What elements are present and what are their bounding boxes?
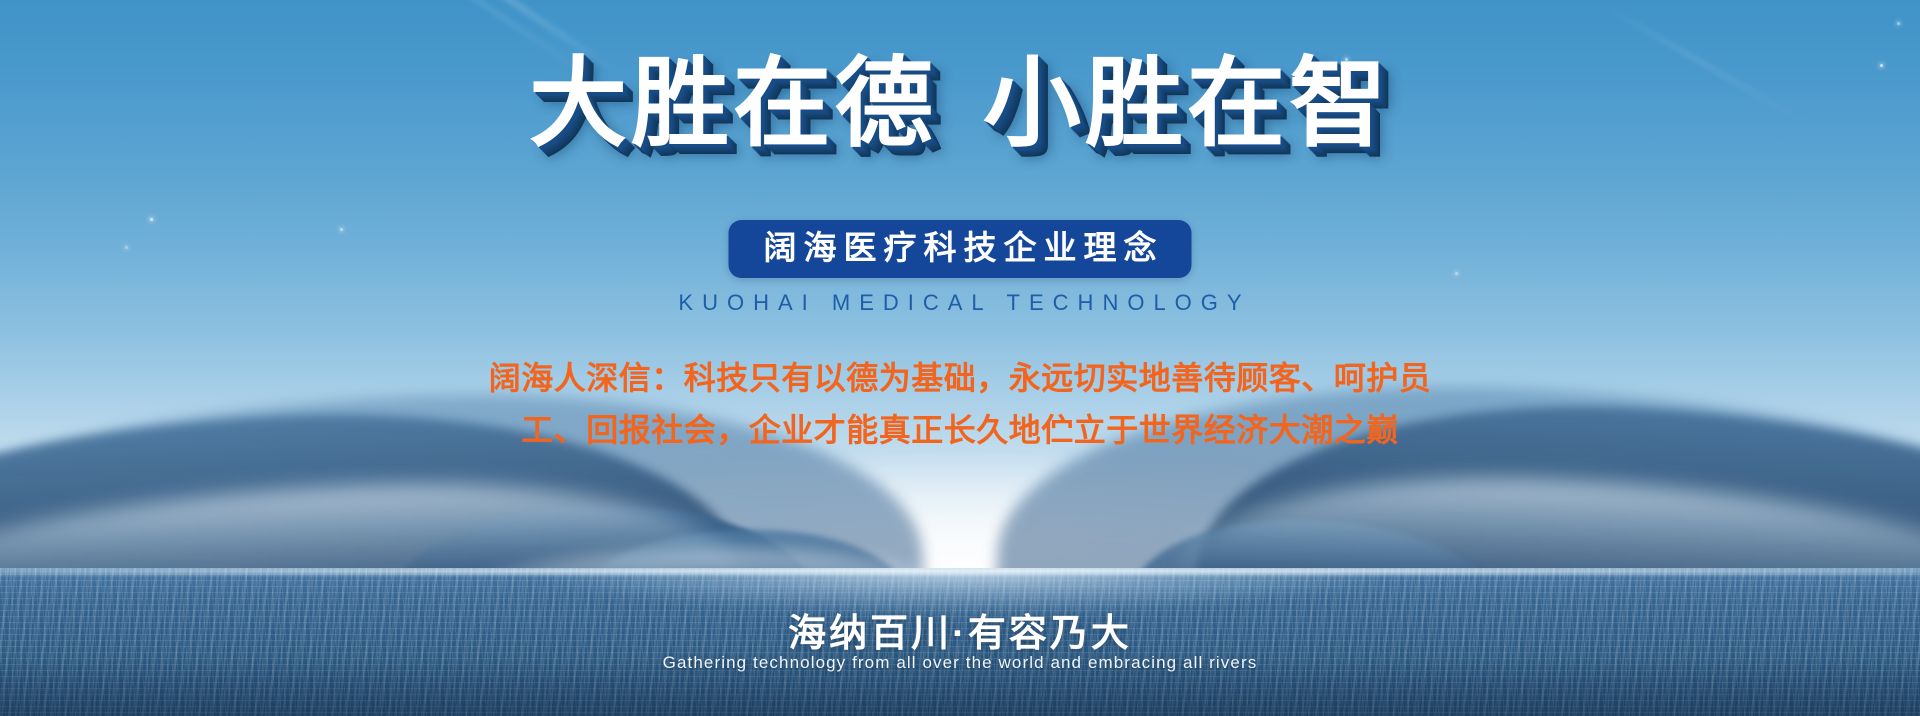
footer-motto-cn: 海纳百川·有容乃大 (0, 602, 1920, 657)
main-title-part2: 小胜在智 (983, 48, 1391, 158)
footer-motto-en: Gathering technology from all over the w… (0, 653, 1920, 673)
slogan-block: 阔海人深信：科技只有以德为基础，永远切实地善待顾客、呵护员 工、回报社会，企业才… (420, 352, 1500, 456)
main-title: 大胜在德小胜在智 (0, 52, 1920, 156)
company-name-english: KUOHAI MEDICAL TECHNOLOGY (0, 290, 1920, 316)
company-philosophy-badge: 阔海医疗科技企业理念 (729, 220, 1192, 278)
main-title-part1: 大胜在德 (529, 48, 937, 158)
banner-content: 大胜在德小胜在智 阔海医疗科技企业理念 KUOHAI MEDICAL TECHN… (0, 0, 1920, 716)
banner-hero: 大胜在德小胜在智 阔海医疗科技企业理念 KUOHAI MEDICAL TECHN… (0, 0, 1920, 716)
slogan-line-2: 工、回报社会，企业才能真正长久地伫立于世界经济大潮之巅 (420, 404, 1500, 456)
slogan-line-1: 阔海人深信：科技只有以德为基础，永远切实地善待顾客、呵护员 (420, 352, 1500, 404)
